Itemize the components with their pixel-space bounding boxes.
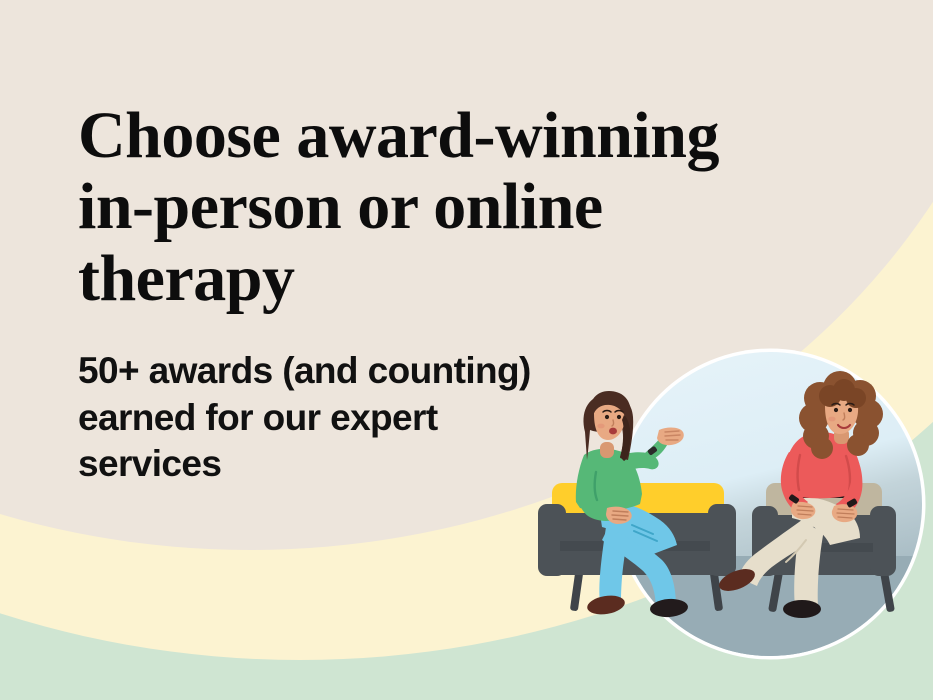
hero-banner: Choose award-winning in-person or online…	[0, 0, 933, 700]
text-content: Choose award-winning in-person or online…	[0, 0, 933, 700]
page-title: Choose award-winning in-person or online…	[78, 100, 778, 314]
page-subtitle: 50+ awards (and counting) earned for our…	[78, 348, 638, 488]
